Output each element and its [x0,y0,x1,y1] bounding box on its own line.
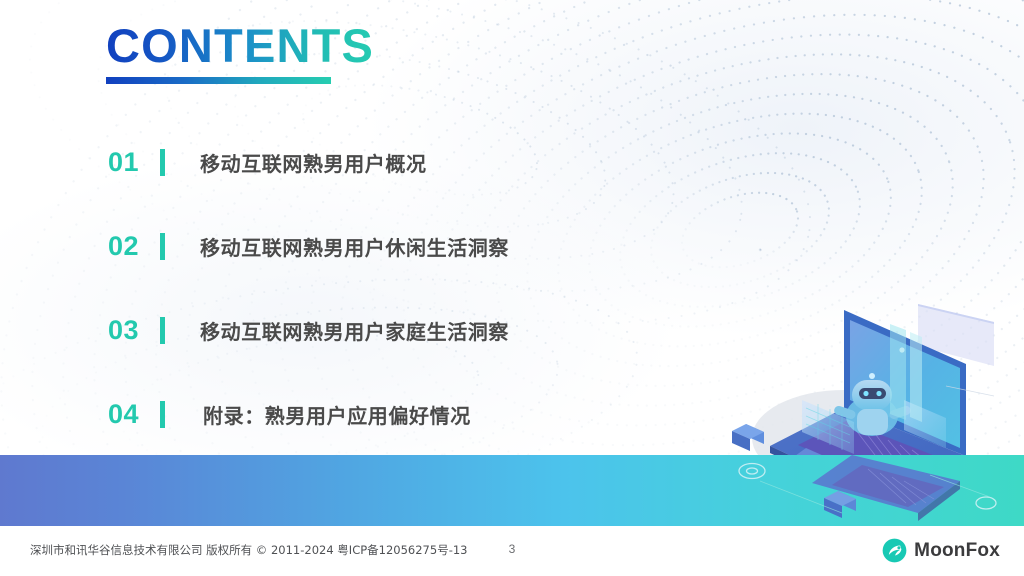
floating-panel-vertical [890,324,922,422]
page-title: CONTENTS [106,22,374,69]
laptop-screen [844,310,966,456]
floating-cube-left [732,424,764,451]
bottom-gradient-band [0,455,1024,526]
contents-item-01[interactable]: 01 移动互联网熟男用户概况 [0,120,700,204]
contents-item-label: 移动互联网熟男用户休闲生活洞察 [200,232,509,261]
floating-panel-left [802,400,854,454]
contents-item-label: 移动互联网熟男用户概况 [200,148,427,177]
contents-item-label: 移动互联网熟男用户家庭生活洞察 [200,316,509,345]
page-title-block: CONTENTS [106,22,374,84]
contents-item-divider-bar [160,233,165,260]
contents-item-number: 02 [108,233,139,260]
moonfox-logo-icon [882,538,907,563]
contents-item-divider-bar [160,149,165,176]
page-footer: 深圳市和讯华谷信息技术有限公司 版权所有 © 2011-2024 粤ICP备12… [0,526,1024,576]
contents-item-02[interactable]: 02 移动互联网熟男用户休闲生活洞察 [0,204,700,288]
contents-item-number: 04 [108,401,139,428]
brand-logo: MoonFox [882,538,1000,563]
contents-list: 01 移动互联网熟男用户概况 02 移动互联网熟男用户休闲生活洞察 03 移动互… [0,120,700,456]
contents-item-number: 03 [108,317,139,344]
contents-item-04[interactable]: 04 附录：熟男用户应用偏好情况 [0,372,700,456]
contents-item-divider-bar [160,317,165,344]
band-illustration-overlay [0,455,1024,526]
contents-item-03[interactable]: 03 移动互联网熟男用户家庭生活洞察 [0,288,700,372]
robot-figure [833,373,912,436]
contents-item-label: 附录：熟男用户应用偏好情况 [203,400,471,429]
slide-canvas: CONTENTS 01 移动互联网熟男用户概况 02 移动互联网熟男用户休闲生活… [0,0,1024,576]
floating-panel-top [918,304,994,366]
page-number: 3 [0,542,1024,556]
floating-panel-right [904,400,946,448]
title-underline-bar [106,77,331,84]
contents-item-number: 01 [108,149,139,176]
contents-item-divider-bar [160,401,165,428]
brand-name: MoonFox [914,540,1000,562]
